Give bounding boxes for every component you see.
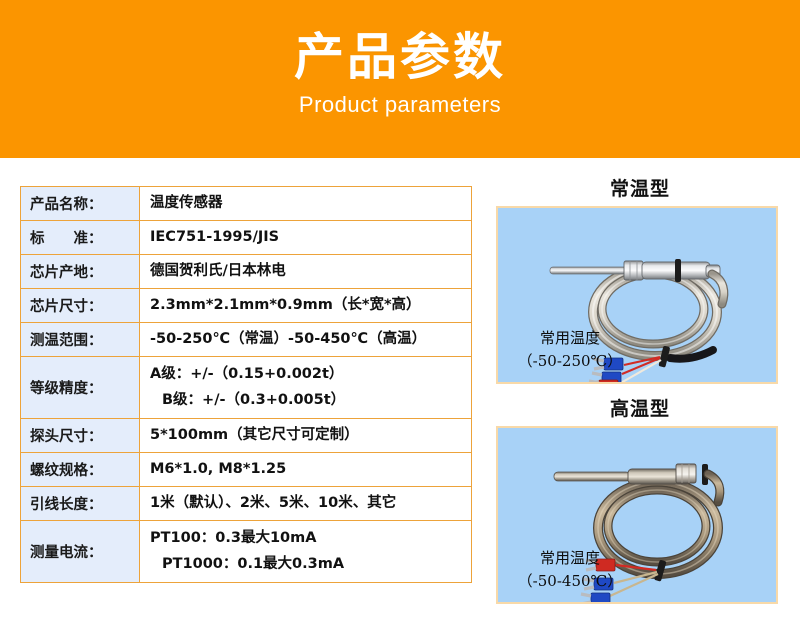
panel-caption: 常用温度 （-50-450℃）	[506, 547, 634, 593]
spec-label: 探头尺寸：	[21, 419, 140, 453]
panel-heading: 高温型	[496, 396, 784, 426]
spec-label: 测温范围：	[21, 323, 140, 357]
spec-label: 引线长度：	[21, 487, 140, 521]
panel-caption-line-1: 常用温度	[506, 547, 634, 570]
spec-value: 5*100mm（其它尺寸可定制）	[140, 419, 472, 453]
table-row: 引线长度： 1米（默认）、2米、5米、10米、其它	[21, 487, 472, 521]
spec-value-line-2: B级：+/-（0.3+0.005t）	[150, 391, 465, 410]
table-row: 产品名称： 温度传感器	[21, 187, 472, 221]
spec-value: 1米（默认）、2米、5米、10米、其它	[140, 487, 472, 521]
spec-value: 2.3mm*2.1mm*0.9mm（长*宽*高）	[140, 289, 472, 323]
spec-label: 芯片产地：	[21, 255, 140, 289]
spec-label: 螺纹规格：	[21, 453, 140, 487]
product-photo-panels: 常温型	[496, 176, 784, 604]
panel-caption-line-2: （-50-450℃）	[506, 570, 634, 593]
spec-value: M6*1.0, M8*1.25	[140, 453, 472, 487]
spec-value: A级：+/-（0.15+0.002t） B级：+/-（0.3+0.005t）	[140, 357, 472, 419]
product-photo-normal-temperature: 常用温度 （-50-250℃）	[496, 206, 778, 384]
panel-caption: 常用温度 （-50-250℃）	[506, 327, 634, 373]
table-row: 测温范围： -50-250℃（常温）-50-450℃（高温）	[21, 323, 472, 357]
spec-label: 等级精度：	[21, 357, 140, 419]
page-subtitle: Product parameters	[0, 90, 800, 120]
table-row: 测量电流： PT100：0.3最大10mA PT1000：0.1最大0.3mA	[21, 521, 472, 583]
spec-value: 温度传感器	[140, 187, 472, 221]
table-row: 芯片尺寸： 2.3mm*2.1mm*0.9mm（长*宽*高）	[21, 289, 472, 323]
table-row: 等级精度： A级：+/-（0.15+0.002t） B级：+/-（0.3+0.0…	[21, 357, 472, 419]
page-title: 产品参数	[0, 28, 800, 86]
terminal-blue-2	[592, 372, 621, 384]
spec-value-line-1: PT100：0.3最大10mA	[150, 530, 316, 546]
spec-label: 测量电流：	[21, 521, 140, 583]
spec-label: 标 准：	[21, 221, 140, 255]
specification-table: 产品名称： 温度传感器 标 准： IEC751-1995/JIS 芯片产地： 德…	[20, 186, 472, 583]
panel-heading: 常温型	[496, 176, 784, 206]
spec-value: PT100：0.3最大10mA PT1000：0.1最大0.3mA	[140, 521, 472, 583]
panel-caption-line-2: （-50-250℃）	[506, 350, 634, 373]
table-row: 标 准： IEC751-1995/JIS	[21, 221, 472, 255]
spec-value: 德国贺利氏/日本林电	[140, 255, 472, 289]
spec-value: -50-250℃（常温）-50-450℃（高温）	[140, 323, 472, 357]
spec-label: 产品名称：	[21, 187, 140, 221]
panel-caption-line-1: 常用温度	[506, 327, 634, 350]
table-row: 探头尺寸： 5*100mm（其它尺寸可定制）	[21, 419, 472, 453]
terminal-red-1	[589, 380, 618, 384]
header-text-group: 产品参数 Product parameters	[0, 0, 800, 120]
table-row: 芯片产地： 德国贺利氏/日本林电	[21, 255, 472, 289]
page-header-banner: 产品参数 Product parameters	[0, 0, 800, 158]
table-row: 螺纹规格： M6*1.0, M8*1.25	[21, 453, 472, 487]
product-photo-high-temperature: 常用温度 （-50-450℃）	[496, 426, 778, 604]
spec-value-line-2: PT1000：0.1最大0.3mA	[150, 555, 465, 574]
spec-label: 芯片尺寸：	[21, 289, 140, 323]
spec-value: IEC751-1995/JIS	[140, 221, 472, 255]
spec-value-line-1: A级：+/-（0.15+0.002t）	[150, 366, 343, 382]
panel-normal-temperature: 常温型	[496, 176, 784, 384]
content-area: 产品名称： 温度传感器 标 准： IEC751-1995/JIS 芯片产地： 德…	[0, 158, 800, 644]
terminal-blue-2	[581, 593, 610, 604]
panel-high-temperature: 高温型	[496, 396, 784, 604]
